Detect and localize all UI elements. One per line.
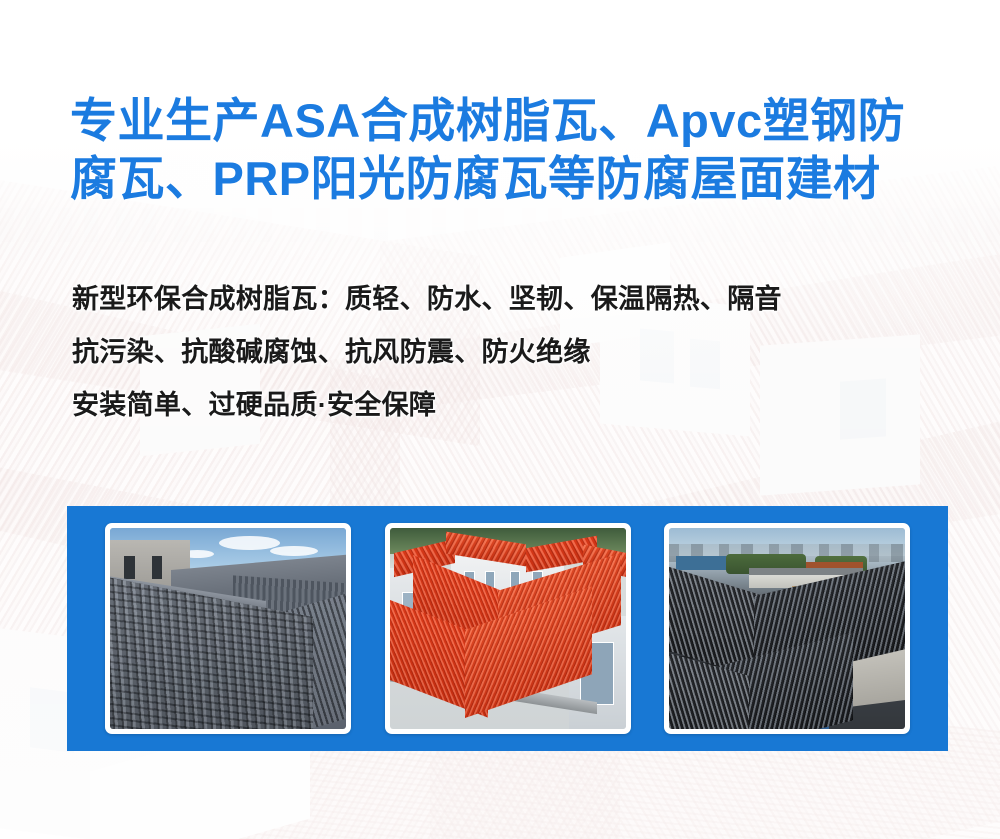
photo-gallery-panel xyxy=(67,506,948,751)
subtitle-line-2: 抗污染、抗酸碱腐蚀、抗风防震、防火绝缘 xyxy=(72,326,972,379)
photo-frame-2[interactable] xyxy=(385,523,631,734)
grey-resin-tile-roof-photo xyxy=(110,528,346,729)
headline-line-1: 专业生产ASA合成树脂瓦、Apvc塑钢防 xyxy=(70,92,950,150)
subtitle-line-1: 新型环保合成树脂瓦：质轻、防水、坚韧、保温隔热、隔音 xyxy=(72,273,972,326)
red-resin-tile-roof-photo xyxy=(390,528,626,729)
subtitle-block: 新型环保合成树脂瓦：质轻、防水、坚韧、保温隔热、隔音 抗污染、抗酸碱腐蚀、抗风防… xyxy=(72,273,972,432)
headline-line-2: 腐瓦、PRP阳光防腐瓦等防腐屋面建材 xyxy=(70,150,950,208)
photo-frame-3[interactable] xyxy=(664,523,910,734)
photo-cloud xyxy=(270,546,317,556)
photo-frame-1[interactable] xyxy=(105,523,351,734)
photo-cloud xyxy=(219,536,280,550)
headline: 专业生产ASA合成树脂瓦、Apvc塑钢防 腐瓦、PRP阳光防腐瓦等防腐屋面建材 xyxy=(60,92,950,208)
black-resin-tile-roof-photo xyxy=(669,528,905,729)
subtitle-line-3: 安装简单、过硬品质·安全保障 xyxy=(72,379,972,432)
photo-blue-roof-building xyxy=(676,556,728,570)
